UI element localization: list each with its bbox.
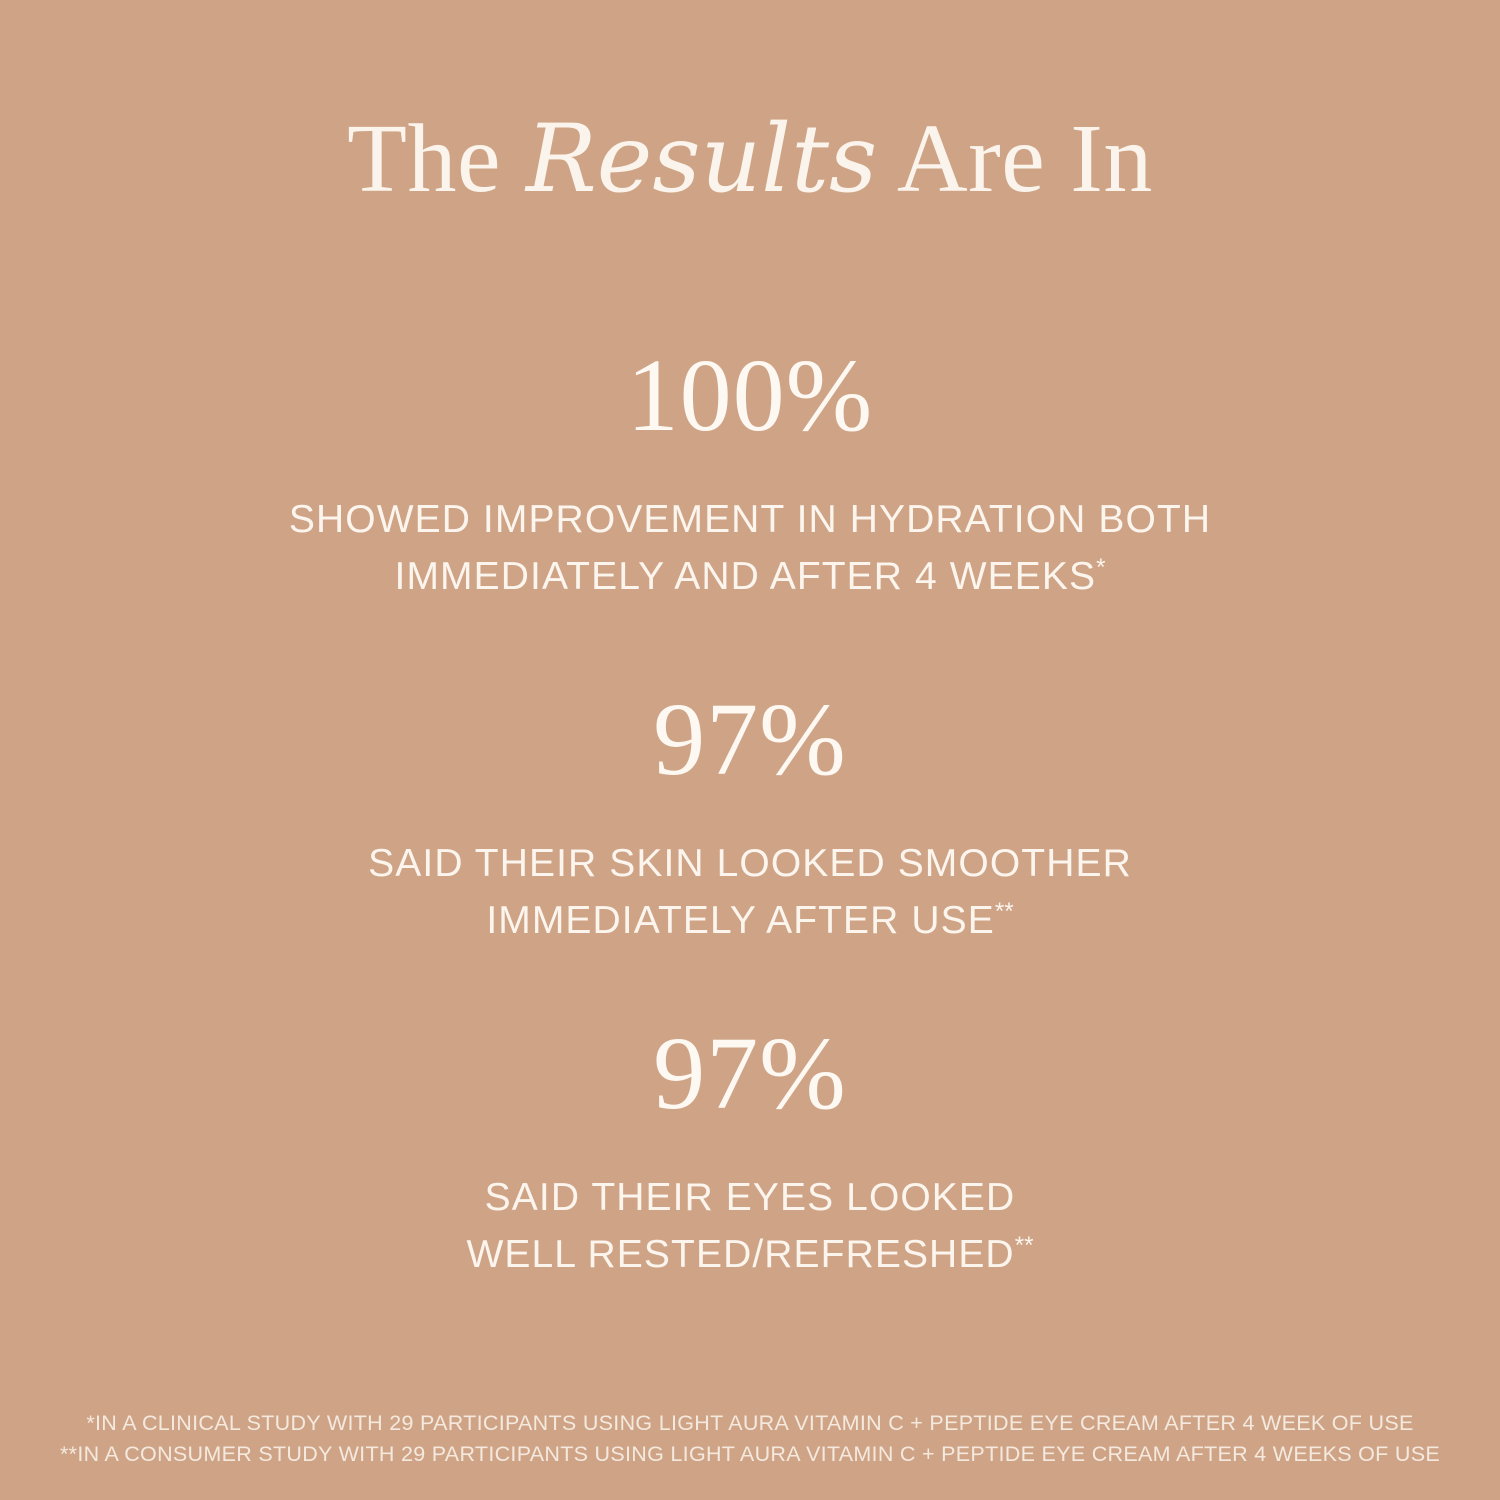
stat-value: 97% — [0, 688, 1500, 792]
stat-description: SAID THEIR SKIN LOOKED SMOOTHER IMMEDIAT… — [0, 836, 1500, 949]
headline-part-1: The — [347, 105, 526, 213]
page-title: The Results Are In — [0, 108, 1500, 211]
stat-description-line-1: SAID THEIR EYES LOOKED — [0, 1170, 1500, 1227]
stat-value: 97% — [0, 1022, 1500, 1126]
stat-block-hydration: 100% SHOWED IMPROVEMENT IN HYDRATION BOT… — [0, 344, 1500, 605]
stat-description-line-2-text: IMMEDIATELY AFTER USE — [486, 899, 995, 942]
stat-block-well-rested-eyes: 97% SAID THEIR EYES LOOKED WELL RESTED/R… — [0, 1022, 1500, 1283]
results-marketing-card: The Results Are In 100% SHOWED IMPROVEME… — [0, 0, 1500, 1500]
stat-description: SHOWED IMPROVEMENT IN HYDRATION BOTH IMM… — [0, 492, 1500, 605]
stat-description-line-2: IMMEDIATELY AND AFTER 4 WEEKS* — [0, 549, 1500, 606]
footnote-marker: ** — [995, 898, 1014, 925]
stat-description-line-2: WELL RESTED/REFRESHED** — [0, 1227, 1500, 1284]
stat-description-line-2-text: WELL RESTED/REFRESHED — [466, 1233, 1014, 1276]
footnote-line-1: *IN A CLINICAL STUDY WITH 29 PARTICIPANT… — [0, 1408, 1500, 1439]
stat-description-line-2-text: IMMEDIATELY AND AFTER 4 WEEKS — [395, 555, 1097, 598]
footnotes: *IN A CLINICAL STUDY WITH 29 PARTICIPANT… — [0, 1408, 1500, 1469]
stat-block-smoother-skin: 97% SAID THEIR SKIN LOOKED SMOOTHER IMME… — [0, 688, 1500, 949]
stat-description-line-2: IMMEDIATELY AFTER USE** — [0, 893, 1500, 950]
footnote-marker: * — [1096, 554, 1105, 581]
stat-description-line-1: SAID THEIR SKIN LOOKED SMOOTHER — [0, 836, 1500, 893]
footnote-line-2: **IN A CONSUMER STUDY WITH 29 PARTICIPAN… — [0, 1439, 1500, 1470]
headline-part-2: Are In — [877, 105, 1153, 213]
footnote-marker: ** — [1015, 1232, 1034, 1259]
stat-description: SAID THEIR EYES LOOKED WELL RESTED/REFRE… — [0, 1170, 1500, 1283]
stat-description-line-1: SHOWED IMPROVEMENT IN HYDRATION BOTH — [0, 492, 1500, 549]
headline-emphasis-word: Results — [526, 105, 877, 214]
stat-value: 100% — [0, 344, 1500, 448]
